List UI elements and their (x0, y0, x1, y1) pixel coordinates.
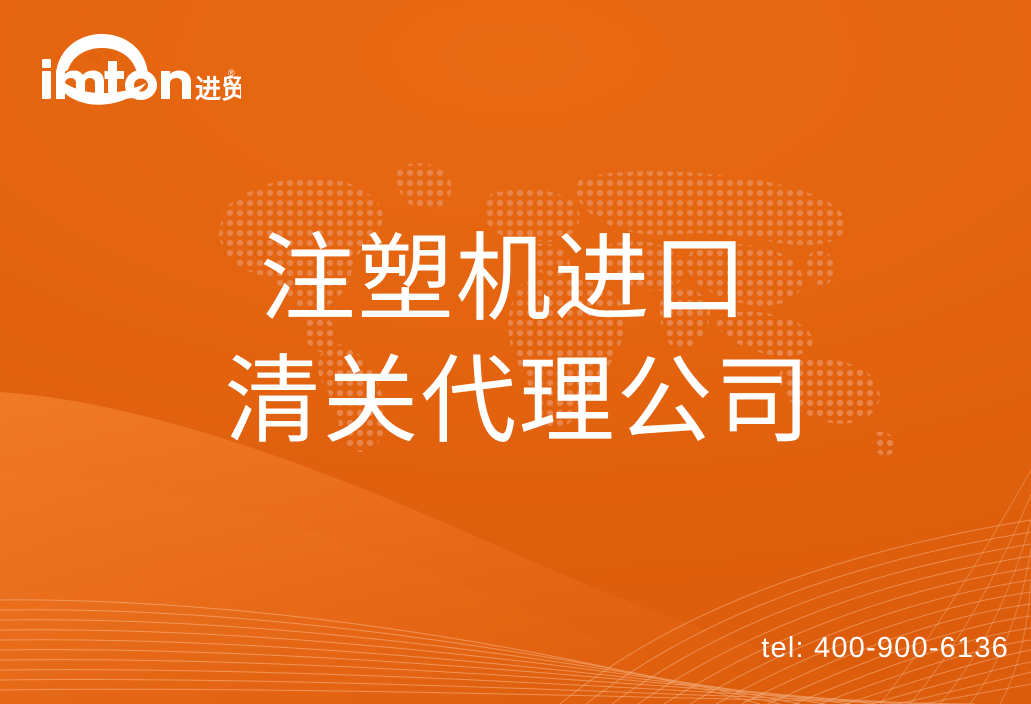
logo-trademark-symbol: ® (228, 68, 235, 78)
marketing-banner: 进贸通 ® 注塑机进口 清关代理公司 tel: 400-900-6136 (0, 0, 1031, 704)
page-title: 注塑机进口 清关代理公司 (0, 232, 1031, 450)
logo-chinese-name: 进贸通 (195, 74, 241, 104)
contact-phone[interactable]: tel: 400-900-6136 (761, 632, 1009, 665)
headline-line-2: 清关代理公司 (6, 354, 1031, 450)
headline-line-1: 注塑机进口 (0, 232, 1031, 328)
globe-arc-icon (56, 34, 148, 74)
imton-logo[interactable]: 进贸通 ® (36, 28, 241, 106)
